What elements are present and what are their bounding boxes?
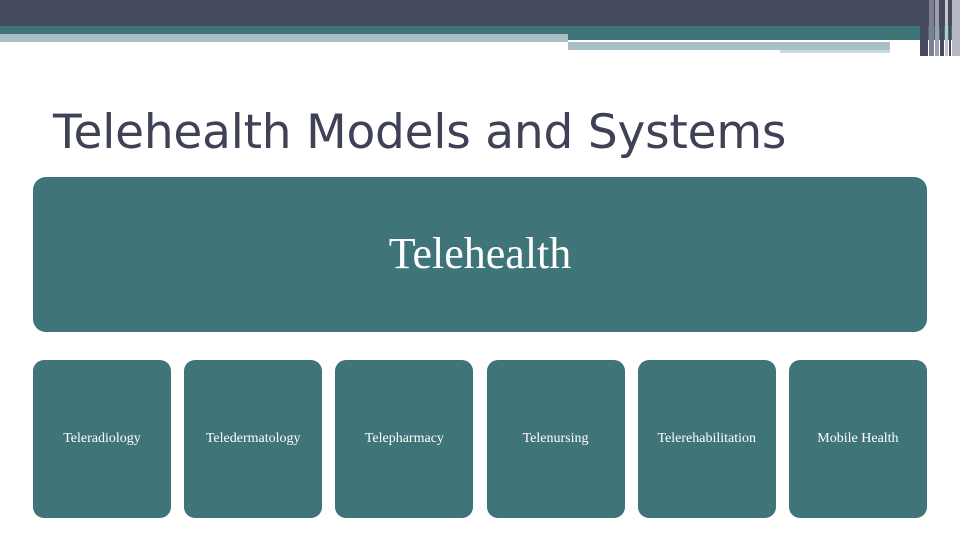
banner-accent-stripe-7 xyxy=(952,0,960,56)
diagram-child-node-4[interactable]: Telenursing xyxy=(487,360,625,518)
diagram-child-label-6: Mobile Health xyxy=(817,431,898,447)
slide-title: Telehealth Models and Systems xyxy=(53,100,913,166)
diagram-child-label-4: Telenursing xyxy=(523,431,589,447)
diagram-child-node-5[interactable]: Telerehabilitation xyxy=(638,360,776,518)
banner-accent-stripe-4 xyxy=(940,0,944,56)
diagram-child-node-1[interactable]: Teleradiology xyxy=(33,360,171,518)
banner-light-band-right xyxy=(568,42,890,50)
banner-accent-stripe-2 xyxy=(929,0,934,56)
diagram-child-label-5: Telerehabilitation xyxy=(657,431,756,447)
banner-accent-stripe-5 xyxy=(945,0,948,56)
slide-canvas: Telehealth Models and Systems Telehealth… xyxy=(0,0,960,540)
banner-accent-stripe-1 xyxy=(920,0,928,56)
banner-light-band-tail xyxy=(780,50,890,53)
diagram-child-label-3: Telepharmacy xyxy=(365,431,444,447)
banner-dark-band xyxy=(0,0,960,26)
banner-accent-stripe-3 xyxy=(935,0,939,56)
diagram-parent-label: Telehealth xyxy=(389,230,572,278)
diagram-parent-node[interactable]: Telehealth xyxy=(33,177,927,332)
diagram-child-node-6[interactable]: Mobile Health xyxy=(789,360,927,518)
banner-accent-stripes xyxy=(920,0,960,56)
banner-light-band-left xyxy=(0,34,568,42)
diagram-child-label-2: Teledermatology xyxy=(206,431,301,447)
banner-accent-stripe-6 xyxy=(949,0,951,56)
banner-teal-band-right xyxy=(568,26,960,40)
slide-header-banner xyxy=(0,0,960,56)
diagram-child-node-3[interactable]: Telepharmacy xyxy=(335,360,473,518)
diagram-child-label-1: Teleradiology xyxy=(63,431,141,447)
diagram-children-row: Teleradiology Teledermatology Telepharma… xyxy=(33,360,927,518)
banner-teal-band-left xyxy=(0,26,568,34)
diagram-child-node-2[interactable]: Teledermatology xyxy=(184,360,322,518)
